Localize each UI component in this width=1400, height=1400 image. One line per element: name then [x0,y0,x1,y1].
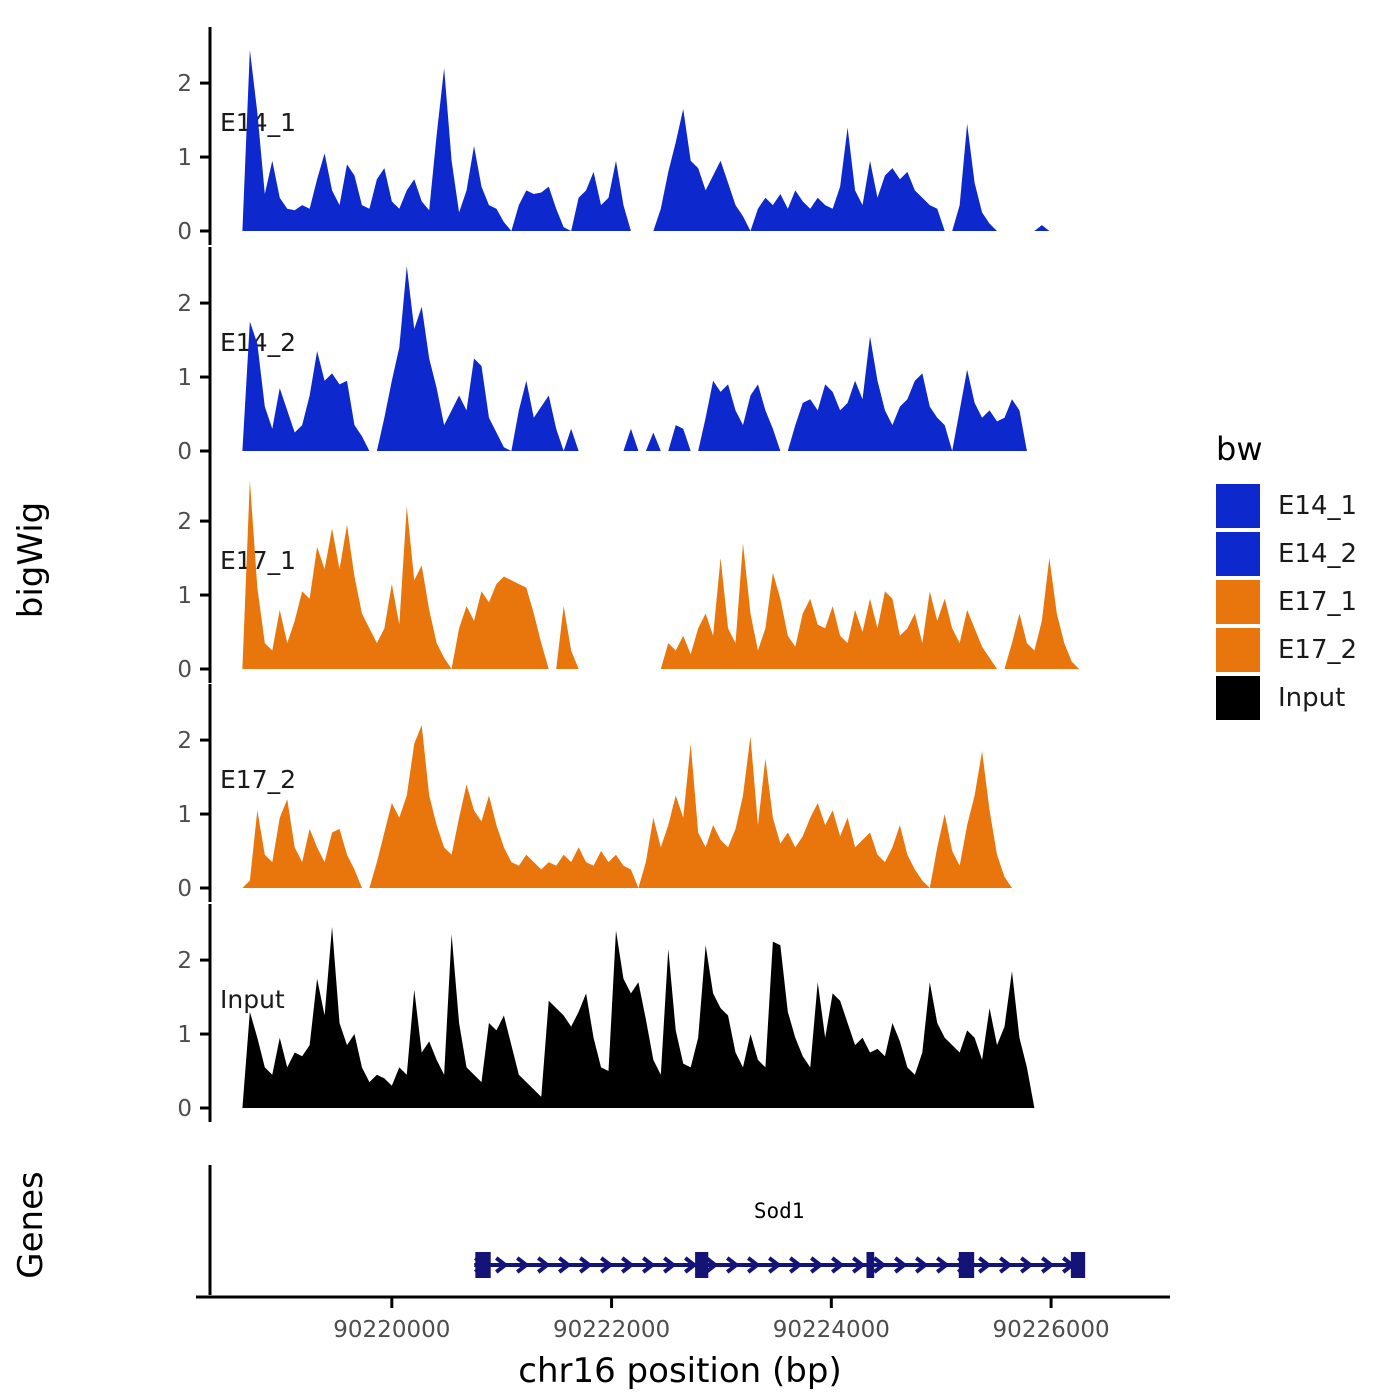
legend-swatch-E14_1[interactable] [1216,484,1260,528]
gene-exon[interactable] [1071,1252,1085,1278]
y-tick-label: 2 [177,509,192,535]
y-tick-label: 0 [177,1096,192,1122]
gene-exon[interactable] [695,1252,708,1278]
y-tick-label: 2 [177,71,192,97]
y-tick-label: 0 [177,657,192,683]
gene-exon[interactable] [866,1252,874,1278]
legend-label-E14_1[interactable]: E14_1 [1278,491,1357,521]
legend-swatch-E17_2[interactable] [1216,628,1260,672]
x-tick-label: 90226000 [993,1317,1110,1343]
legend-swatch-E17_1[interactable] [1216,580,1260,624]
y-tick-label: 0 [177,219,192,245]
track-label-Input: Input [220,985,285,1014]
y-tick-label: 1 [177,802,192,828]
gene-exon[interactable] [959,1252,974,1278]
legend-swatch-Input[interactable] [1216,676,1260,720]
track-label-E17_2: E17_2 [220,765,296,794]
legend-label-E17_2[interactable]: E17_2 [1278,635,1357,665]
legend-label-Input[interactable]: Input [1278,683,1345,713]
y-axis-title: bigWig [11,502,51,619]
x-axis-title: chr16 position (bp) [518,1351,841,1391]
genome-browser-figure: 012E14_1012E14_2012E17_1012E17_2012Input… [0,0,1400,1400]
legend-label-E17_1[interactable]: E17_1 [1278,587,1357,617]
figure-root: 012E14_1012E14_2012E17_1012E17_2012Input… [0,0,1400,1400]
y-tick-label: 2 [177,291,192,317]
gene-exon[interactable] [475,1252,490,1278]
x-tick-label: 90222000 [553,1317,670,1343]
y-tick-label: 0 [177,439,192,465]
gene-name-label: Sod1 [754,1199,805,1223]
legend-swatch-E14_2[interactable] [1216,532,1260,576]
y-tick-label: 1 [177,1022,192,1048]
y-tick-label: 0 [177,876,192,902]
y-tick-label: 1 [177,583,192,609]
x-tick-label: 90224000 [773,1317,890,1343]
legend-label-E14_2[interactable]: E14_2 [1278,539,1357,569]
legend-title: bw [1216,430,1262,468]
y-tick-label: 2 [177,728,192,754]
gene-axis-title: Genes [11,1171,51,1278]
y-tick-label: 1 [177,145,192,171]
x-tick-label: 90220000 [333,1317,450,1343]
y-tick-label: 2 [177,948,192,974]
y-tick-label: 1 [177,365,192,391]
track-label-E17_1: E17_1 [220,546,296,575]
